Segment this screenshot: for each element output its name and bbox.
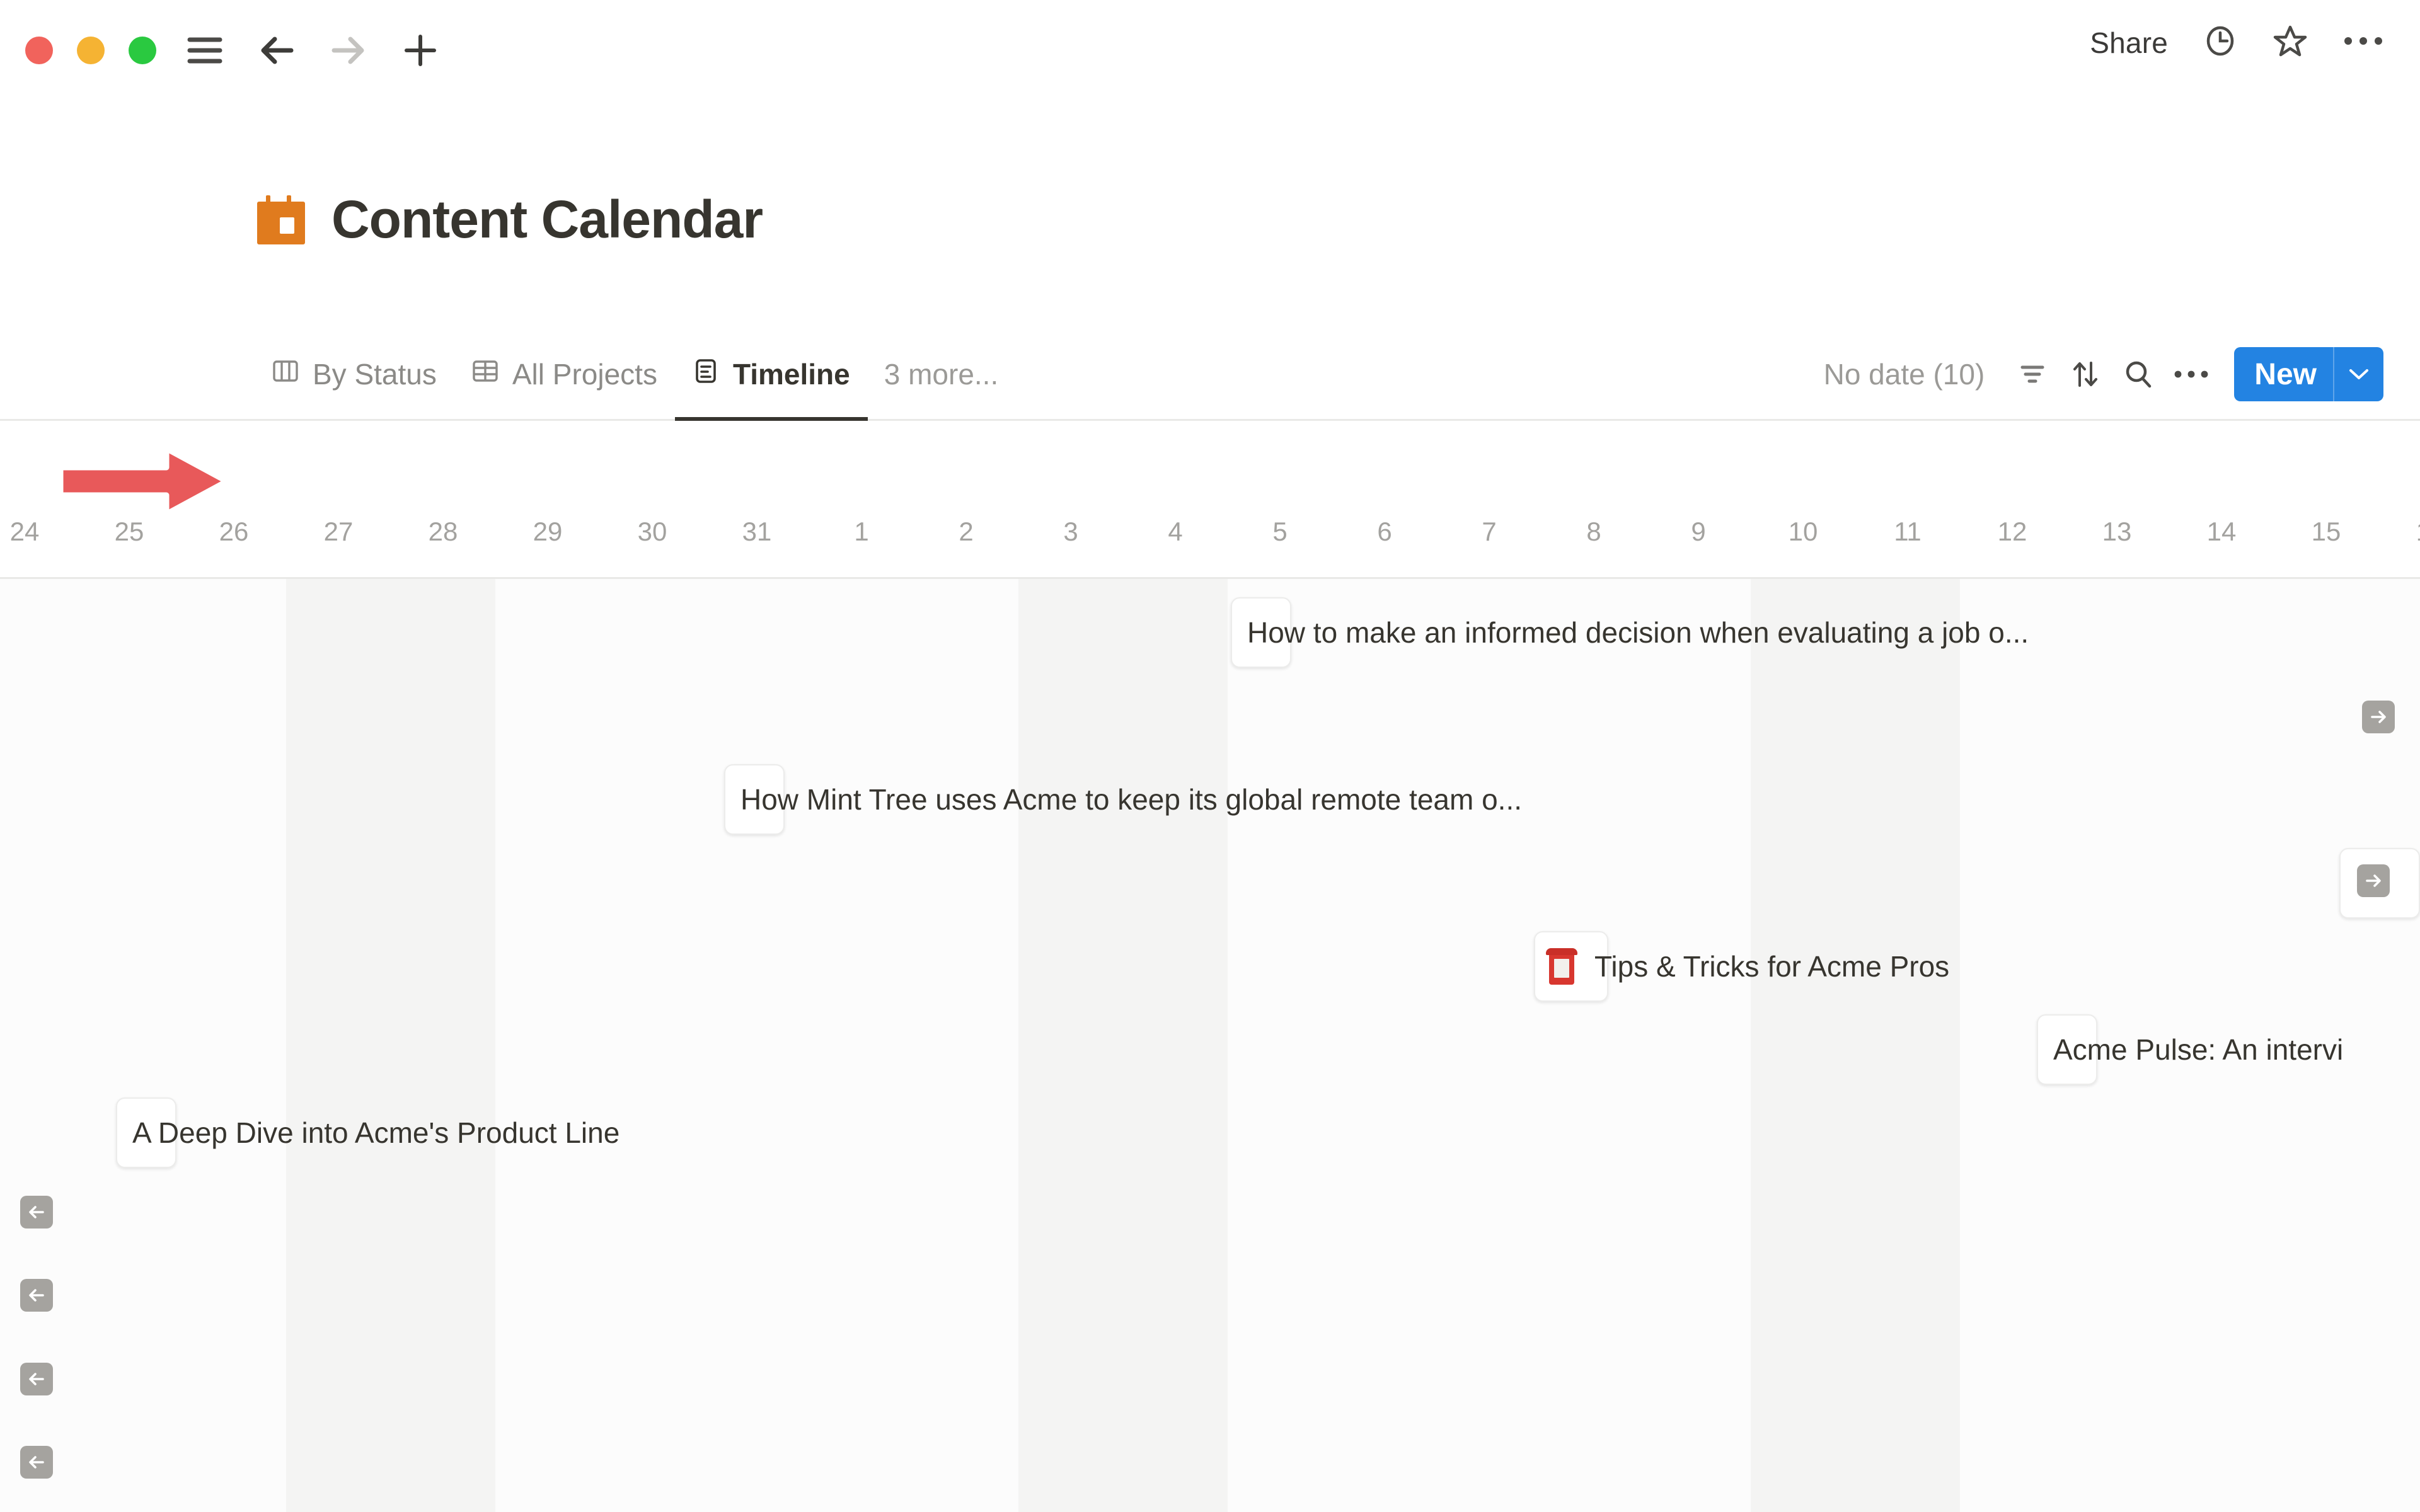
new-tab-plus-icon[interactable] (398, 25, 442, 76)
timeline-event-card[interactable]: A Deep Dive into Acme's Product Line (116, 1097, 176, 1168)
share-button[interactable]: Share (2090, 26, 2168, 60)
day-tick-8: 8 (1541, 517, 1646, 547)
window-titlebar: Share (0, 0, 2420, 101)
timeline-event-handle[interactable] (116, 1097, 176, 1168)
scroll-to-event-left-icon[interactable] (20, 1446, 53, 1479)
day-tick-16: 16 (2378, 517, 2420, 547)
timeline-event-handle[interactable] (724, 764, 785, 835)
traffic-lights (25, 37, 156, 64)
timeline-day-ruler: 242526272829303112345678910111213141516 (0, 517, 2420, 577)
day-tick-28: 28 (391, 517, 495, 547)
day-tick-26: 26 (181, 517, 286, 547)
page-title[interactable]: Content Calendar (331, 189, 763, 250)
day-tick-15: 15 (2274, 517, 2378, 547)
page-header: Content Calendar (257, 189, 763, 250)
tab-more-views[interactable]: 3 more... (868, 357, 1015, 391)
day-tick-25: 25 (77, 517, 181, 547)
timeline-icon (693, 357, 719, 391)
window-right-actions: Share (2090, 24, 2383, 61)
timeline-canvas[interactable]: How to make an informed decision when ev… (0, 579, 2420, 1512)
day-tick-7: 7 (1437, 517, 1541, 547)
weekend-column-shade (391, 579, 495, 1512)
tab-all-projects-label: All Projects (512, 357, 657, 391)
sort-icon[interactable] (2059, 348, 2112, 401)
timeline-event-card[interactable]: Acme Pulse: An intervi (2037, 1014, 2097, 1085)
timeline-event-handle[interactable] (2037, 1014, 2097, 1085)
scroll-to-event-right-icon[interactable] (2362, 701, 2395, 733)
tab-by-status[interactable]: By Status (255, 328, 454, 421)
tab-by-status-label: By Status (313, 357, 437, 391)
more-options-icon[interactable] (2343, 35, 2383, 50)
timeline-header: January 2024 February 5 Open in Calendar… (0, 421, 2420, 529)
day-tick-9: 9 (1646, 517, 1751, 547)
weekend-column-shade (1855, 579, 1960, 1512)
telephone-box-icon (1544, 948, 1579, 985)
favorite-star-icon[interactable] (2273, 24, 2308, 61)
forward-arrow-icon (326, 25, 371, 76)
scroll-to-event-right-icon[interactable] (2357, 864, 2390, 897)
tab-timeline-label: Timeline (733, 357, 850, 391)
new-button[interactable]: New (2234, 347, 2383, 401)
day-tick-5: 5 (1228, 517, 1332, 547)
day-tick-3: 3 (1018, 517, 1123, 547)
close-window-button[interactable] (25, 37, 53, 64)
scroll-to-event-left-icon[interactable] (20, 1363, 53, 1395)
zoom-window-button[interactable] (129, 37, 156, 64)
weekend-column-shade (1751, 579, 1855, 1512)
weekend-column-shade (1018, 579, 1123, 1512)
day-tick-12: 12 (1960, 517, 2065, 547)
day-tick-10: 10 (1751, 517, 1855, 547)
day-tick-31: 31 (705, 517, 809, 547)
scroll-to-event-left-icon[interactable] (20, 1279, 53, 1312)
view-tabs: By Status All Projects Timeline 3 more..… (255, 328, 1015, 421)
weekend-column-shade (286, 579, 391, 1512)
tab-all-projects[interactable]: All Projects (454, 328, 675, 421)
back-arrow-icon[interactable] (255, 25, 299, 76)
timeline-event-card[interactable]: How Mint Tree uses Acme to keep its glob… (724, 764, 785, 835)
view-tab-bar: By Status All Projects Timeline 3 more..… (0, 328, 2420, 421)
tab-timeline[interactable]: Timeline (675, 328, 868, 421)
tear-off-calendar-icon[interactable] (257, 195, 305, 244)
day-tick-6: 6 (1332, 517, 1437, 547)
sidebar-toggle-icon[interactable] (183, 25, 227, 76)
scroll-to-event-left-icon[interactable] (20, 1196, 53, 1228)
day-tick-11: 11 (1855, 517, 1960, 547)
new-button-label: New (2234, 357, 2333, 392)
day-tick-13: 13 (2065, 517, 2169, 547)
table-icon (472, 357, 498, 391)
day-tick-24: 24 (0, 517, 77, 547)
day-tick-2: 2 (914, 517, 1018, 547)
no-date-count-label[interactable]: No date (10) (1824, 357, 1985, 391)
weekend-column-shade (1123, 579, 1228, 1512)
timeline-event-card[interactable]: Tips & Tricks for Acme Pros (1534, 931, 1608, 1002)
timeline-event-handle[interactable] (1231, 597, 1291, 668)
board-icon (272, 357, 299, 391)
more-icon[interactable] (2165, 348, 2218, 401)
timeline-event-card[interactable]: How to make an informed decision when ev… (1231, 597, 1291, 668)
day-tick-1: 1 (809, 517, 914, 547)
minimize-window-button[interactable] (77, 37, 105, 64)
day-tick-29: 29 (495, 517, 600, 547)
updates-clock-icon[interactable] (2203, 24, 2237, 61)
window-nav-icons (183, 25, 442, 76)
filter-icon[interactable] (2006, 348, 2059, 401)
search-icon[interactable] (2112, 348, 2165, 401)
timeline-event-handle[interactable] (1534, 931, 1608, 1002)
day-tick-30: 30 (600, 517, 705, 547)
chevron-down-icon[interactable] (2334, 367, 2383, 381)
day-tick-4: 4 (1123, 517, 1228, 547)
day-tick-14: 14 (2169, 517, 2274, 547)
day-tick-27: 27 (286, 517, 391, 547)
view-toolbar: No date (10) New (1824, 328, 2383, 421)
